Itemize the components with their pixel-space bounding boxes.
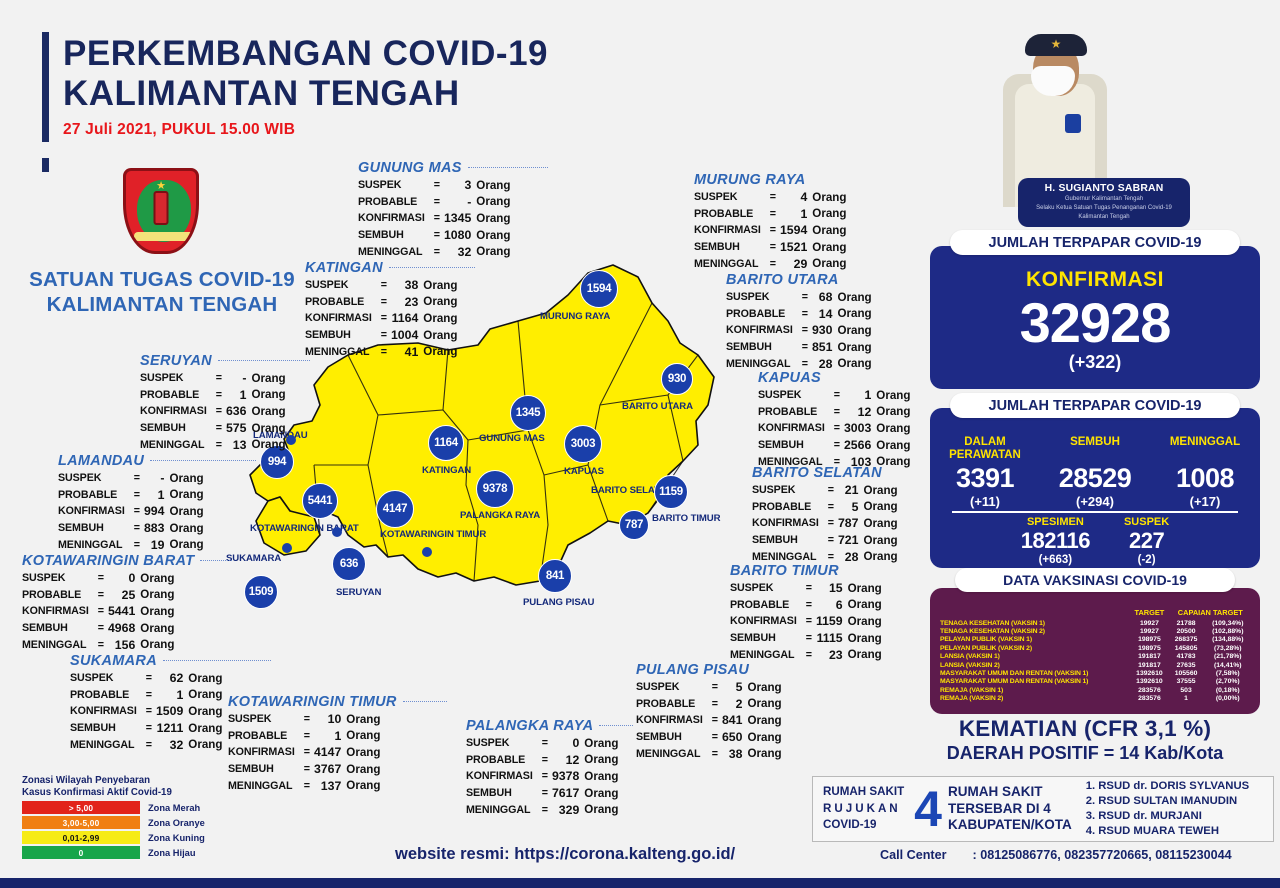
table-row: PROBABLE=25Orang [22,587,174,604]
map-label-gunung-mas: GUNUNG MAS [479,433,545,444]
legend-item-kuning: 0,01-2,99 Zona Kuning [22,831,237,844]
table-header-row: TARGET CAPAIAN TARGET [940,608,1252,619]
region-table: SUSPEK=3Orang PROBABLE=-Orang KONFIRMASI… [358,177,510,260]
table-row: TENAGA KESEHATAN (VAKSIN 1)1992721788(10… [940,619,1252,627]
table-row: SEMBUH=721Orang [752,532,898,549]
table-row: KONFIRMASI=1345Orang [358,210,510,227]
table-row: SEMBUH=851Orang [726,339,872,356]
table-row: PROBABLE=12Orang [466,752,618,769]
legend-item-hijau: 0 Zona Hijau [22,846,237,859]
region-block-seruyan: SERUYAN SUSPEK=-Orang PROBABLE=1Orang KO… [140,353,310,453]
region-name: BARITO UTARA [726,272,839,288]
map-label-sukamara: SUKAMARA [226,553,281,564]
table-row: SUSPEK=5Orang [636,679,782,696]
region-block-gunung-mas: GUNUNG MAS SUSPEK=3Orang PROBABLE=-Orang… [358,160,548,260]
zone-legend: Zonasi Wilayah Penyebaran Kasus Konfirma… [22,775,237,859]
kalimantan-tengah-emblem-icon: ★ [123,168,199,254]
region-table: SUSPEK=-Orang PROBABLE=1Orang KONFIRMASI… [58,470,204,553]
list-item: 1. RSUD dr. DORIS SYLVANUS [1086,779,1249,794]
marker-value: 636 [340,558,358,570]
stat-delta: (-2) [1124,554,1169,566]
stat-delta: (+11) [931,494,1040,509]
table-row: SEMBUH=1004Orang [305,327,457,344]
marker-value: 930 [668,373,686,385]
call-center-label: Call Center [880,848,947,862]
table-row: SUSPEK=-Orang [58,470,204,487]
hospital-count: 4 [914,780,942,838]
panel-header-terpapar-1: JUMLAH TERPAPAR COVID-19 [950,230,1240,255]
region-table: SUSPEK=10Orang PROBABLE=1Orang KONFIRMAS… [228,711,380,794]
stat-value: 28529 [1041,463,1150,494]
legend-chip-range: > 5,00 [22,801,140,814]
table-row: PROBABLE=1Orang [70,687,222,704]
table-row: PELAYAN PUBLIK (VAKSIN 2)198975145805(73… [940,644,1252,652]
table-row: SEMBUH=3767Orang [228,761,380,778]
table-row: PROBABLE=-Orang [358,194,510,211]
region-name: SERUYAN [140,353,212,369]
referral-label-l2: RUJUKAN [823,801,904,818]
marker-value: 1164 [434,437,458,449]
table-row: MENINGGAL=19Orang [58,537,204,554]
region-name: KAPUAS [758,370,821,386]
map-label-kapuas: KAPUAS [564,466,604,477]
table-row: KONFIRMASI=841Orang [636,712,782,729]
marker-value: 9378 [483,483,507,495]
table-row: KONFIRMASI=4147Orang [228,744,380,761]
region-block-barito-utara: BARITO UTARA SUSPEK=68Orang PROBABLE=14O… [726,272,872,372]
report-date: 27 Juli 2021, PUKUL 15.00 WIB [63,121,548,139]
official-website[interactable]: website resmi: https://corona.kalteng.go… [395,845,735,864]
table-row: SUSPEK=3Orang [358,177,510,194]
infographic-root: PERKEMBANGAN COVID-19 KALIMANTAN TENGAH … [0,0,1280,888]
table-row: MENINGGAL=38Orang [636,746,782,763]
accent-bar-top [42,32,49,142]
legend-title-l1: Zonasi Wilayah Penyebaran [22,775,237,787]
breakdown-panel: DALAMPERAWATAN 3391 (+11) SEMBUH 28529 (… [930,408,1260,568]
panel-header-terpapar-2: JUMLAH TERPAPAR COVID-19 [950,393,1240,418]
map-marker-kapuas[interactable]: 3003 [564,425,602,463]
map-label-pulang-pisau: PULANG PISAU [523,597,594,608]
table-row: SUSPEK=21Orang [752,482,898,499]
table-row: PELAYAN PUBLIK (VAKSIN 1)198975268375(13… [940,636,1252,644]
marker-value: 4147 [383,503,407,515]
marker-value: 1345 [516,407,540,419]
table-row: SEMBUH=1521Orang [694,239,846,256]
referral-label-l1: RUMAH SAKIT [823,784,904,801]
table-row: SUSPEK=-Orang [140,370,286,387]
hospital-list: 1. RSUD dr. DORIS SYLVANUS 2. RSUD SULTA… [1086,779,1249,839]
region-table: SUSPEK=21Orang PROBABLE=5Orang KONFIRMAS… [752,482,898,565]
hospital-spread-text: RUMAH SAKIT TERSEBAR DI 4 KABUPATEN/KOTA [948,784,1072,833]
table-row: MENINGGAL=156Orang [22,637,174,654]
table-row: SEMBUH=4968Orang [22,620,174,637]
vaccination-panel: TARGET CAPAIAN TARGET TENAGA KESEHATAN (… [930,588,1260,714]
table-row: KONFIRMASI=1159Orang [730,613,882,630]
region-table: SUSPEK=-Orang PROBABLE=1Orang KONFIRMASI… [140,370,286,453]
region-table: SUSPEK=1Orang PROBABLE=12Orang KONFIRMAS… [758,387,910,470]
table-row: SEMBUH=2566Orang [758,437,910,454]
stat-value: 227 [1124,528,1169,554]
table-row: MASYARAKAT UMUM DAN RENTAN (VAKSIN 1)139… [940,669,1252,677]
governor-nameplate: H. SUGIANTO SABRAN Gubernur Kalimantan T… [1018,178,1190,227]
referral-label-l3: COVID-19 [823,817,904,834]
table-row: MENINGGAL=29Orang [694,256,846,273]
call-center: Call Center : 08125086776, 082357720665,… [880,848,1280,862]
stat-label-l1: DALAM [964,436,1006,448]
legend-chip-range: 0 [22,846,140,859]
table-row: KONFIRMASI=9378Orang [466,768,618,785]
konfirmasi-label: KONFIRMASI [930,268,1260,292]
cfr-summary: KEMATIAN (CFR 3,1 %) DAERAH POSITIF = 14… [890,716,1280,764]
table-row: LANSIA (VAKSIN 2)19181727635(14,41%) [940,661,1252,669]
region-name: SUKAMARA [70,653,157,669]
map-marker-katingan[interactable]: 1164 [428,425,464,461]
marker-value: 3003 [571,438,595,450]
table-row: PROBABLE=2Orang [636,696,782,713]
table-row: MENINGGAL=23Orang [730,647,882,664]
table-row: SUSPEK=4Orang [694,189,846,206]
table-row: PROBABLE=1Orang [58,487,204,504]
map-label-kotawaringin-timur: KOTAWARINGIN TIMUR [380,529,486,540]
map-dot-kobar [332,527,342,537]
table-row: PROBABLE=1Orang [228,728,380,745]
table-row: SEMBUH=883Orang [58,520,204,537]
region-block-katingan: KATINGAN SUSPEK=38Orang PROBABLE=23Orang… [305,260,475,360]
table-row: PROBABLE=5Orang [752,499,898,516]
spread-l3: KABUPATEN/KOTA [948,817,1072,833]
table-row: KONFIRMASI=636Orang [140,403,286,420]
page-title: PERKEMBANGAN COVID-19 KALIMANTAN TENGAH … [63,34,548,139]
table-row: SUSPEK=38Orang [305,277,457,294]
stat-label-l2: PERAWATAN [949,449,1021,461]
map-dot-sukamara [282,543,292,553]
stat-cell-suspek: SUSPEK 227 (-2) [1124,516,1169,566]
stat-cell-sembuh: SEMBUH 28529 (+294) [1041,436,1150,509]
map-marker-palangka-raya[interactable]: 9378 [476,470,514,508]
call-center-value: : 08125086776, 082357720665, 08115230044 [973,848,1232,862]
stat-delta: (+294) [1041,494,1150,509]
table-row: SUSPEK=15Orang [730,580,882,597]
table-row: KONFIRMASI=930Orang [726,322,872,339]
table-row: PROBABLE=12Orang [758,404,910,421]
stat-cell-dalam-perawatan: DALAMPERAWATAN 3391 (+11) [931,436,1040,509]
table-row: SUSPEK=0Orang [466,735,618,752]
table-row: SUSPEK=62Orang [70,670,222,687]
governor-title-1: Gubernur Kalimantan Tengah [1024,195,1184,203]
panel-divider [952,511,1238,513]
stat-value: 1008 [1151,463,1260,494]
table-row: SUSPEK=10Orang [228,711,380,728]
governor-title-3: Kalimantan Tengah [1024,213,1184,221]
marker-value: 1509 [249,586,273,598]
konfirmasi-delta: (+322) [930,352,1260,373]
stat-value: 182116 [1021,528,1090,554]
list-item: 4. RSUD MUARA TEWEH [1086,824,1249,839]
region-table: SUSPEK=4Orang PROBABLE=1Orang KONFIRMASI… [694,189,846,272]
spread-l2: TERSEBAR DI 4 [948,801,1072,817]
map-marker-seruyan[interactable]: 636 [332,547,366,581]
stat-cell-meninggal: MENINGGAL 1008 (+17) [1151,436,1260,509]
stat-cell-spesimen: SPESIMEN 182116 (+663) [1021,516,1090,566]
stat-delta: (+663) [1021,554,1090,566]
vaccination-table: TARGET CAPAIAN TARGET TENAGA KESEHATAN (… [940,608,1252,703]
cfr-line-2: DAERAH POSITIF = 14 Kab/Kota [890,743,1280,764]
table-row: SEMBUH=7617Orang [466,785,618,802]
region-table: SUSPEK=68Orang PROBABLE=14Orang KONFIRMA… [726,289,872,372]
marker-value: 5441 [308,495,332,507]
col-header-category [940,608,1130,619]
map-marker-barito-timur[interactable]: 1159 [654,475,688,509]
table-row: REMAJA (VAKSIN 2)2835761(0,00%) [940,694,1252,702]
map-label-katingan: KATINGAN [422,465,471,476]
list-item: 3. RSUD dr. MURJANI [1086,809,1249,824]
table-row: MENINGGAL=41Orang [305,344,457,361]
table-row: REMAJA (VAKSIN 1)283576503(0,18%) [940,686,1252,694]
marker-value: 787 [625,519,643,531]
region-table: SUSPEK=38Orang PROBABLE=23Orang KONFIRMA… [305,277,457,360]
region-name: PALANGKA RAYA [466,718,593,734]
table-row: KONFIRMASI=1164Orang [305,310,457,327]
table-row: MENINGGAL=32Orang [70,737,222,754]
region-name: LAMANDAU [58,453,144,469]
referral-label: RUMAH SAKIT RUJUKAN COVID-19 [823,784,904,834]
marker-value: 841 [546,570,564,582]
region-block-pulang-pisau: PULANG PISAU SUSPEK=5Orang PROBABLE=2Ora… [636,662,782,762]
table-row: KONFIRMASI=1594Orang [694,222,846,239]
map-marker-kotawaringin-timur[interactable]: 4147 [376,490,414,528]
legend-title-l2: Kasus Konfirmasi Aktif Covid-19 [22,787,237,799]
stat-delta: (+17) [1151,494,1260,509]
region-table: SUSPEK=62Orang PROBABLE=1Orang KONFIRMAS… [70,670,222,753]
table-row: MENINGGAL=329Orang [466,802,618,819]
legend-chip-range: 0,01-2,99 [22,831,140,844]
table-row: SEMBUH=575Orang [140,420,286,437]
table-row: KONFIRMASI=994Orang [58,503,204,520]
spread-l1: RUMAH SAKIT [948,784,1072,800]
map-marker-gunung-mas[interactable]: 1345 [510,395,546,431]
map-label-palangka-raya: PALANGKA RAYA [460,510,540,521]
stat-value: 3391 [931,463,1040,494]
table-row: SUSPEK=68Orang [726,289,872,306]
governor-name: H. SUGIANTO SABRAN [1024,183,1184,194]
table-row: SEMBUH=1080Orang [358,227,510,244]
governor-title-2: Selaku Ketua Satuan Tugas Penanganan Cov… [1024,204,1184,212]
col-header-capaian: CAPAIAN TARGET [1169,608,1252,619]
table-row: MENINGGAL=32Orang [358,244,510,261]
konfirmasi-value: 32928 [930,290,1260,355]
region-block-palangka-raya: PALANGKA RAYA SUSPEK=0Orang PROBABLE=12O… [466,718,633,818]
map-marker-murung-raya[interactable]: 1594 [580,270,618,308]
list-item: 2. RSUD SULTAN IMANUDIN [1086,794,1249,809]
cfr-line-1: KEMATIAN (CFR 3,1 %) [890,716,1280,742]
region-block-barito-timur: BARITO TIMUR SUSPEK=15Orang PROBABLE=6Or… [730,563,882,663]
table-row: PROBABLE=14Orang [726,306,872,323]
marker-value: 1594 [587,283,611,295]
stat-label: SUSPEK [1124,516,1169,528]
stat-label-l1: SEMBUH [1070,436,1120,448]
map-label-barito-timur: BARITO TIMUR [652,513,720,524]
region-name: KOTAWARINGIN TIMUR [228,694,397,710]
panel-header-vaksinasi: DATA VAKSINASI COVID-19 [955,568,1235,592]
accent-bar-mid [42,158,49,172]
stat-label-l1: MENINGGAL [1170,436,1240,448]
region-table: SUSPEK=0Orang PROBABLE=12Orang KONFIRMAS… [466,735,618,818]
table-row: TENAGA KESEHATAN (VAKSIN 2)1992720500(10… [940,627,1252,635]
region-name: GUNUNG MAS [358,160,462,176]
footer-bar [0,878,1280,888]
region-block-murung-raya: MURUNG RAYA SUSPEK=4Orang PROBABLE=1Oran… [694,172,846,272]
region-name: PULANG PISAU [636,662,749,678]
map-marker-sukamara[interactable]: 1509 [244,575,278,609]
table-row: MASYARAKAT UMUM DAN RENTAN (VAKSIN 1)139… [940,678,1252,686]
legend-item-oranye: 3,00-5,00 Zona Oranye [22,816,237,829]
region-table: SUSPEK=15Orang PROBABLE=6Orang KONFIRMAS… [730,580,882,663]
map-marker-barito-selatan[interactable]: 787 [619,510,649,540]
table-row: SEMBUH=1211Orang [70,720,222,737]
table-row: PROBABLE=1Orang [694,206,846,223]
title-line-1: PERKEMBANGAN COVID-19 [63,34,548,74]
region-table: SUSPEK=5Orang PROBABLE=2Orang KONFIRMASI… [636,679,782,762]
stat-label: SPESIMEN [1021,516,1090,528]
table-row: PROBABLE=1Orang [140,387,286,404]
col-header-target: TARGET [1130,608,1168,619]
table-row: KONFIRMASI=787Orang [752,515,898,532]
table-row: MENINGGAL=137Orang [228,778,380,795]
region-name: KOTAWARINGIN BARAT [22,553,194,569]
region-block-kotawaringin-barat: KOTAWARINGIN BARAT SUSPEK=0Orang PROBABL… [22,553,232,653]
legend-chip-range: 3,00-5,00 [22,816,140,829]
map-label-kotawaringin-barat: KOTAWARINGIN BARAT [250,523,359,534]
table-row: PROBABLE=23Orang [305,294,457,311]
table-row: SUSPEK=1Orang [758,387,910,404]
table-row: SEMBUH=650Orang [636,729,782,746]
region-name: MURUNG RAYA [694,172,806,188]
legend-zone-name: Zona Hijau [148,848,196,858]
legend-item-merah: > 5,00 Zona Merah [22,801,237,814]
map-label-seruyan: SERUYAN [336,587,381,598]
konfirmasi-panel: KONFIRMASI 32928 (+322) [930,246,1260,389]
map-dot-seruyan [422,547,432,557]
table-row: PROBABLE=6Orang [730,597,882,614]
table-row: MENINGGAL=13Orang [140,437,286,454]
region-block-barito-selatan: BARITO SELATAN SUSPEK=21Orang PROBABLE=5… [752,465,898,565]
map-marker-barito-utara[interactable]: 930 [661,363,693,395]
table-row: KONFIRMASI=3003Orang [758,420,910,437]
region-block-kotawaringin-timur: KOTAWARINGIN TIMUR SUSPEK=10Orang PROBAB… [228,694,447,794]
region-table: SUSPEK=0Orang PROBABLE=25Orang KONFIRMAS… [22,570,174,653]
table-row: SUSPEK=0Orang [22,570,174,587]
map-label-murung-raya: MURUNG RAYA [540,311,610,322]
referral-hospitals-box: RUMAH SAKIT RUJUKAN COVID-19 4 RUMAH SAK… [812,776,1274,842]
table-row: SEMBUH=1115Orang [730,630,882,647]
region-block-kapuas: KAPUAS SUSPEK=1Orang PROBABLE=12Orang KO… [758,370,910,470]
legend-zone-name: Zona Merah [148,803,200,813]
map-marker-kotawaringin-barat[interactable]: 5441 [302,483,338,519]
marker-value: 1159 [659,486,683,498]
title-line-2: KALIMANTAN TENGAH [63,74,548,114]
map-label-barito-utara: BARITO UTARA [622,401,693,412]
table-row: KONFIRMASI=5441Orang [22,603,174,620]
region-name: BARITO TIMUR [730,563,839,579]
legend-zone-name: Zona Oranye [148,818,205,828]
table-row: LANSIA (VAKSIN 1)19181741783(21,78%) [940,653,1252,661]
region-block-lamandau: LAMANDAU SUSPEK=-Orang PROBABLE=1Orang K… [58,453,256,553]
region-name: KATINGAN [305,260,383,276]
marker-value: 994 [268,456,286,468]
table-row: KONFIRMASI=1509Orang [70,703,222,720]
map-marker-pulang-pisau[interactable]: 841 [538,559,572,593]
region-name: BARITO SELATAN [752,465,882,481]
legend-zone-name: Zona Kuning [148,833,205,843]
